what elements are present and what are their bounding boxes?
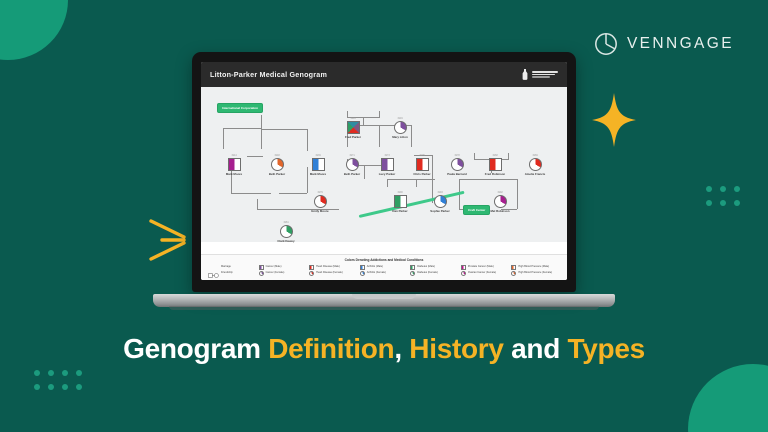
decorative-circle-top-left xyxy=(0,0,68,60)
laptop-mockup: Litton-Parker Medical Genogram xyxy=(153,52,615,307)
node-name: Fred Parker xyxy=(338,136,368,139)
node-year: 1979 xyxy=(305,192,335,194)
legend-item: Diabetes (Male) xyxy=(410,265,459,270)
foundation-logo-icon xyxy=(521,69,558,80)
legend-label: Marriage xyxy=(221,266,231,269)
node-shape-circle xyxy=(494,195,507,208)
node-name: Chris Parker xyxy=(407,173,437,176)
node-name: Paula Bernard xyxy=(442,173,472,176)
node-year: 1990 xyxy=(385,192,415,194)
circle-half-icon xyxy=(360,271,365,276)
legend-item: Ovarian Cancer (Female) xyxy=(461,271,510,276)
node-year: 1993 xyxy=(425,192,455,194)
node-year: 1944 xyxy=(219,155,249,157)
legend-label: Heart Disease (Male) xyxy=(316,266,340,269)
node-shape-circle xyxy=(346,158,359,171)
square-half-icon xyxy=(461,265,466,270)
node-shape-circle xyxy=(314,195,327,208)
node-year: 1949 xyxy=(385,118,415,120)
genogram-node[interactable]: 1939Mark Moore xyxy=(303,155,333,176)
legend-label: Friendship xyxy=(221,272,233,275)
legend-label: Arthritis (Female) xyxy=(367,272,386,275)
node-name: Clark Dewey xyxy=(271,240,301,243)
legend-label: High Blood Pressure (Male) xyxy=(518,266,549,269)
node-shape-circle xyxy=(394,121,407,134)
legend-label: Diabetes (Female) xyxy=(417,272,438,275)
legend-label: Cancer (Female) xyxy=(266,272,285,275)
node-name: Fred Robinson xyxy=(480,173,510,176)
node-year: 1981 xyxy=(271,222,301,224)
node-name: Mel Robinson xyxy=(485,210,515,213)
legend-label: Ovarian Cancer (Female) xyxy=(468,272,496,275)
node-name: Lucy Parker xyxy=(372,173,402,176)
app-title: Litton-Parker Medical Genogram xyxy=(210,70,327,79)
friendship-line-icon xyxy=(208,271,219,276)
headline-part-4: History xyxy=(409,333,503,364)
genogram-node[interactable]: 1971Beth Parker xyxy=(337,155,367,176)
legend-grid: MarriageCancer (Male)Heart Disease (Male… xyxy=(208,265,560,276)
legend-item: Heart Disease (Male) xyxy=(309,265,358,270)
genogram-node[interactable]: 1946Fred Parker xyxy=(338,118,368,139)
headline-part-5: and xyxy=(504,333,568,364)
node-shape-square xyxy=(416,158,429,171)
genogram-node[interactable]: 1990Dan Parker xyxy=(385,192,415,213)
legend-label: Diabetes (Male) xyxy=(417,266,435,269)
node-name: Mark Moore xyxy=(303,173,333,176)
node-year: 1992 xyxy=(485,192,515,194)
node-year: 1973 xyxy=(372,155,402,157)
label-international-corporation[interactable]: International Corporation xyxy=(217,103,263,113)
legend-title: Colors Denoting Addictions and Medical C… xyxy=(208,258,560,262)
headline-part-2: Definition xyxy=(268,333,394,364)
node-name: Mary Litton xyxy=(385,136,415,139)
laptop-base-shadow xyxy=(169,306,599,310)
legend-label: Prostate Cancer (Male) xyxy=(468,266,494,269)
circle-half-icon xyxy=(259,271,264,276)
legend-item: Friendship xyxy=(208,271,257,276)
node-year: 1968 xyxy=(480,155,510,157)
square-half-icon xyxy=(360,265,365,270)
legend-label: Arthritis (Male) xyxy=(367,266,383,269)
circle-half-icon xyxy=(309,271,314,276)
node-shape-square xyxy=(394,195,407,208)
node-year: 1971 xyxy=(337,155,367,157)
venngage-wordmark: VENNGAGE xyxy=(627,35,734,53)
circle-half-icon xyxy=(511,271,516,276)
legend-label: High Blood Pressure (Female) xyxy=(518,272,552,275)
legend-item: High Blood Pressure (Female) xyxy=(511,271,560,276)
node-name: Dan Parker xyxy=(385,210,415,213)
marriage-symbol-icon xyxy=(208,265,219,270)
legend-item: Cancer (Female) xyxy=(259,271,308,276)
legend-item: Arthritis (Female) xyxy=(360,271,409,276)
node-name: Mark Moore xyxy=(219,173,249,176)
genogram-node[interactable]: 1973Lucy Parker xyxy=(372,155,402,176)
genogram-node[interactable]: 1992Mel Robinson xyxy=(485,192,515,213)
genogram-node[interactable]: 1944Mark Moore xyxy=(219,155,249,176)
headline-part-6: Types xyxy=(568,333,645,364)
genogram-node[interactable]: 1979Emily Moore xyxy=(305,192,335,213)
genogram-node[interactable]: 1969Amelie Francis xyxy=(520,155,550,176)
node-year: 1948 xyxy=(262,155,292,157)
node-year: 1975 xyxy=(407,155,437,157)
node-shape-circle xyxy=(434,195,447,208)
node-name: Amelie Francis xyxy=(520,173,550,176)
square-half-icon xyxy=(259,265,264,270)
node-year: 1978 xyxy=(442,155,472,157)
genogram-node[interactable]: 1948Beth Parker xyxy=(262,155,292,176)
genogram-canvas: International Corporation Craft Center 1… xyxy=(201,87,567,242)
legend-item: Arthritis (Male) xyxy=(360,265,409,270)
genogram-node[interactable]: 1949Mary Litton xyxy=(385,118,415,139)
genogram-node[interactable]: 1975Chris Parker xyxy=(407,155,437,176)
node-shape-circle xyxy=(280,225,293,238)
decorative-circle-bottom-right xyxy=(688,364,768,432)
dot-grid-left xyxy=(34,370,82,390)
square-half-icon xyxy=(309,265,314,270)
node-shape-circle xyxy=(271,158,284,171)
headline-part-3: , xyxy=(394,333,409,364)
node-name: Beth Parker xyxy=(262,173,292,176)
node-year: 1939 xyxy=(303,155,333,157)
node-name: Emily Moore xyxy=(305,210,335,213)
legend-label: Cancer (Male) xyxy=(266,266,282,269)
node-year: 1969 xyxy=(520,155,550,157)
legend-item: Heart Disease (Female) xyxy=(309,271,358,276)
page-title: Genogram Definition, History and Types xyxy=(0,333,768,365)
legend-item: Cancer (Male) xyxy=(259,265,308,270)
node-shape-square xyxy=(312,158,325,171)
legend-item: Marriage xyxy=(208,265,257,270)
app-header-bar: Litton-Parker Medical Genogram xyxy=(201,62,567,87)
node-name: Beth Parker xyxy=(337,173,367,176)
square-half-icon xyxy=(410,265,415,270)
node-name: Sophie Parker xyxy=(425,210,455,213)
node-shape-square xyxy=(347,121,360,134)
genogram-node[interactable]: 1968Fred Robinson xyxy=(480,155,510,176)
genogram-node[interactable]: 1993Sophie Parker xyxy=(425,192,455,213)
legend-panel: Colors Denoting Addictions and Medical C… xyxy=(201,254,567,280)
square-half-icon xyxy=(511,265,516,270)
legend-item: Diabetes (Female) xyxy=(410,271,459,276)
node-shape-square xyxy=(228,158,241,171)
circle-half-icon xyxy=(410,271,415,276)
genogram-node[interactable]: 1981Clark Dewey xyxy=(271,222,301,243)
node-shape-square xyxy=(489,158,502,171)
legend-label: Heart Disease (Female) xyxy=(316,272,343,275)
dot-grid-right xyxy=(706,186,740,206)
legend-item: High Blood Pressure (Male) xyxy=(511,265,560,270)
node-shape-square xyxy=(381,158,394,171)
laptop-lid: Litton-Parker Medical Genogram xyxy=(192,52,576,292)
genogram-node[interactable]: 1978Paula Bernard xyxy=(442,155,472,176)
node-year: 1946 xyxy=(338,118,368,120)
headline-part-1: Genogram xyxy=(123,333,268,364)
legend-item: Prostate Cancer (Male) xyxy=(461,265,510,270)
circle-half-icon xyxy=(461,271,466,276)
node-shape-circle xyxy=(529,158,542,171)
node-shape-circle xyxy=(451,158,464,171)
laptop-screen: Litton-Parker Medical Genogram xyxy=(201,62,567,280)
